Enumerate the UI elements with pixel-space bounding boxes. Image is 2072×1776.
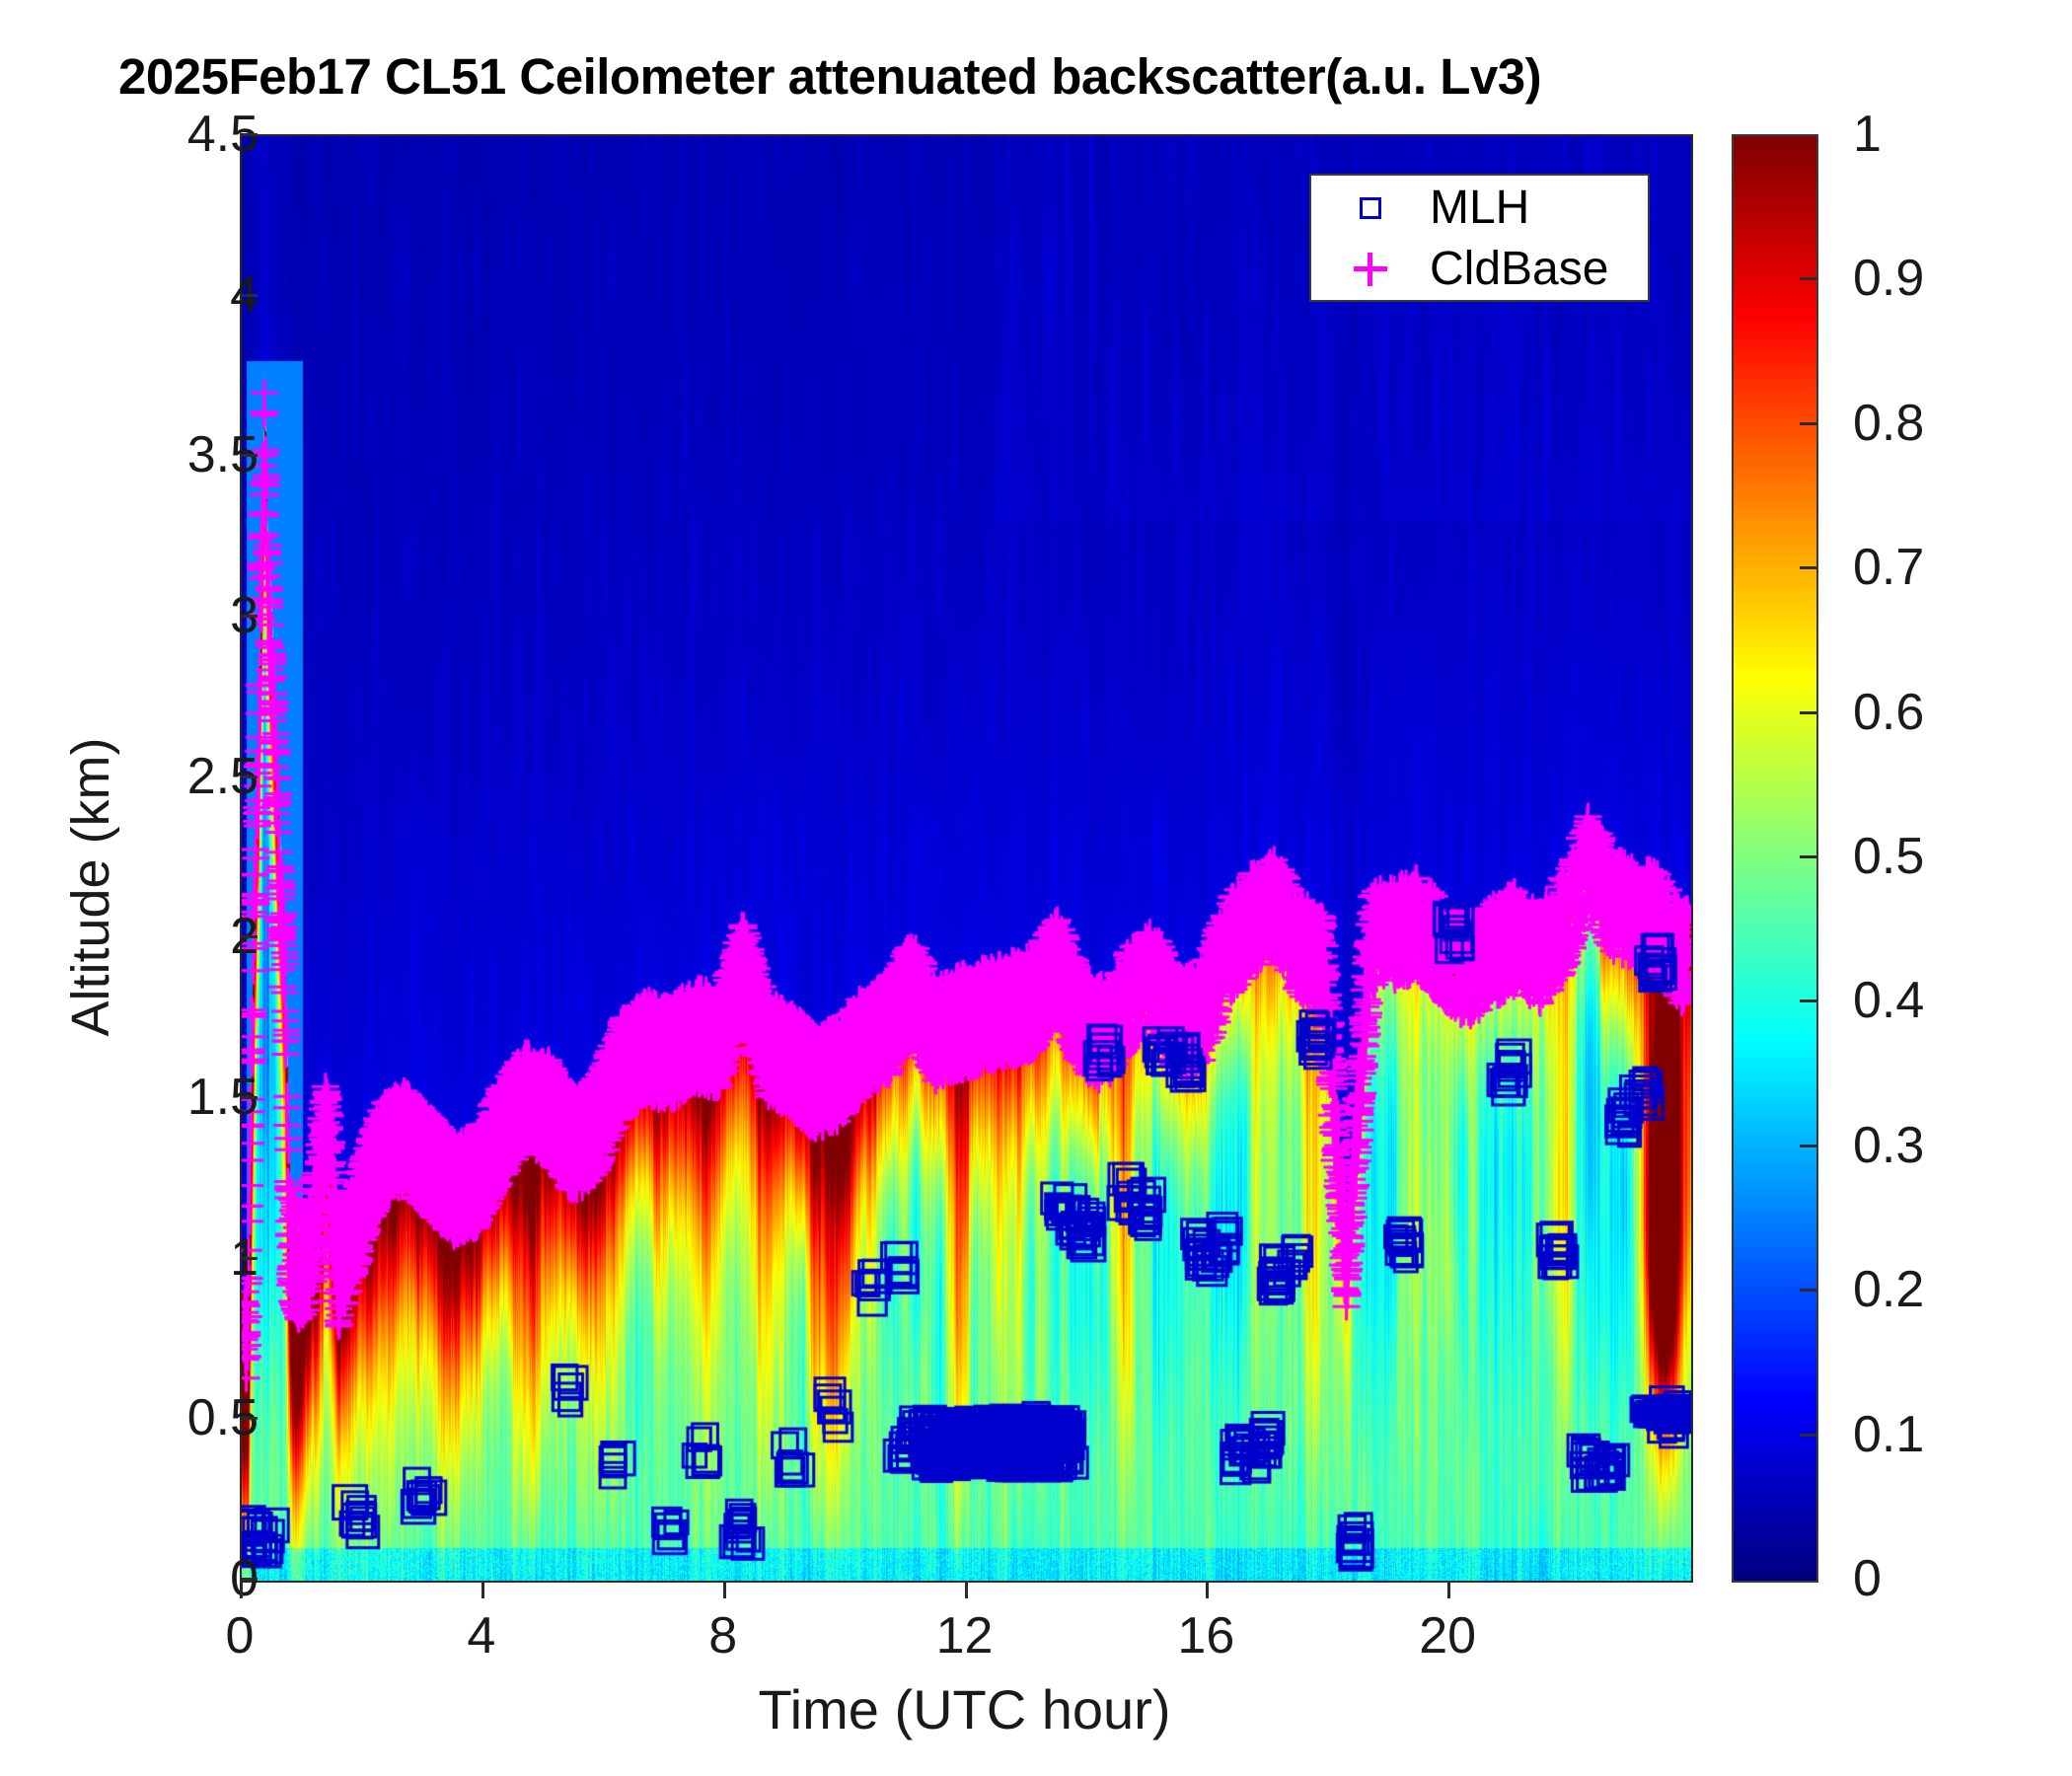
- colorbar-tick-mark: [1800, 999, 1816, 1002]
- y-tick-mark: [240, 294, 258, 297]
- x-tick-label: 0: [226, 1606, 255, 1665]
- chart-title: 2025Feb17 CL51 Ceilometer attenuated bac…: [118, 47, 1855, 106]
- y-tick-mark: [240, 454, 258, 457]
- legend-label-mlh: MLH: [1430, 181, 1529, 235]
- colorbar-tick-label: 0: [1853, 1549, 1882, 1608]
- colorbar-tick-label: 0.1: [1853, 1405, 1924, 1464]
- x-tick-mark: [1447, 1581, 1450, 1598]
- x-tick-mark: [965, 1581, 968, 1598]
- colorbar-tick-label: 0.5: [1853, 827, 1924, 886]
- x-tick-label: 8: [708, 1606, 737, 1665]
- colorbar-gradient: [1734, 136, 1816, 1581]
- backscatter-heatmap: [242, 136, 1691, 1581]
- colorbar-tick-label: 0.8: [1853, 394, 1924, 453]
- x-tick-mark: [1206, 1581, 1209, 1598]
- y-tick-mark: [240, 935, 258, 938]
- x-tick-mark: [723, 1581, 726, 1598]
- colorbar-tick-mark: [1800, 422, 1816, 425]
- y-tick-mark: [240, 133, 258, 136]
- x-tick-mark: [481, 1581, 484, 1598]
- colorbar: [1732, 134, 1818, 1583]
- colorbar-tick-mark: [1800, 1289, 1816, 1292]
- colorbar-tick-label: 0.3: [1853, 1116, 1924, 1175]
- colorbar-tick-mark: [1800, 1434, 1816, 1437]
- colorbar-tick-label: 0.6: [1853, 683, 1924, 742]
- colorbar-tick-label: 1: [1853, 105, 1882, 164]
- colorbar-tick-mark: [1800, 1145, 1816, 1147]
- colorbar-tick-label: 0.2: [1853, 1260, 1924, 1319]
- x-tick-label: 16: [1177, 1606, 1234, 1665]
- y-tick-mark: [240, 1417, 258, 1420]
- x-tick-mark: [240, 1581, 243, 1598]
- colorbar-tick-label: 0.9: [1853, 249, 1924, 308]
- legend-item-cldbase: CldBase: [1311, 237, 1648, 301]
- y-tick-mark: [240, 1257, 258, 1260]
- x-tick-label: 4: [467, 1606, 495, 1665]
- cldbase-plus-icon: [1311, 237, 1430, 301]
- colorbar-tick-mark: [1800, 277, 1816, 280]
- y-axis-label: Altitude (km): [60, 542, 121, 1232]
- y-tick-mark: [240, 1096, 258, 1099]
- plot-area: [240, 134, 1693, 1583]
- chart-figure: 2025Feb17 CL51 Ceilometer attenuated bac…: [0, 0, 2072, 1776]
- x-axis-label: Time (UTC hour): [240, 1677, 1689, 1741]
- y-tick-mark: [240, 615, 258, 618]
- x-tick-label: 20: [1419, 1606, 1476, 1665]
- y-tick-mark: [240, 776, 258, 778]
- mlh-square-icon: [1311, 176, 1430, 240]
- colorbar-tick-label: 0.7: [1853, 538, 1924, 597]
- colorbar-tick-mark: [1800, 566, 1816, 569]
- x-tick-label: 12: [936, 1606, 994, 1665]
- colorbar-tick-label: 0.4: [1853, 971, 1924, 1030]
- legend-label-cldbase: CldBase: [1430, 242, 1608, 296]
- legend: MLH CldBase: [1309, 174, 1650, 302]
- colorbar-tick-mark: [1800, 855, 1816, 858]
- legend-item-mlh: MLH: [1311, 176, 1648, 240]
- colorbar-tick-mark: [1800, 711, 1816, 714]
